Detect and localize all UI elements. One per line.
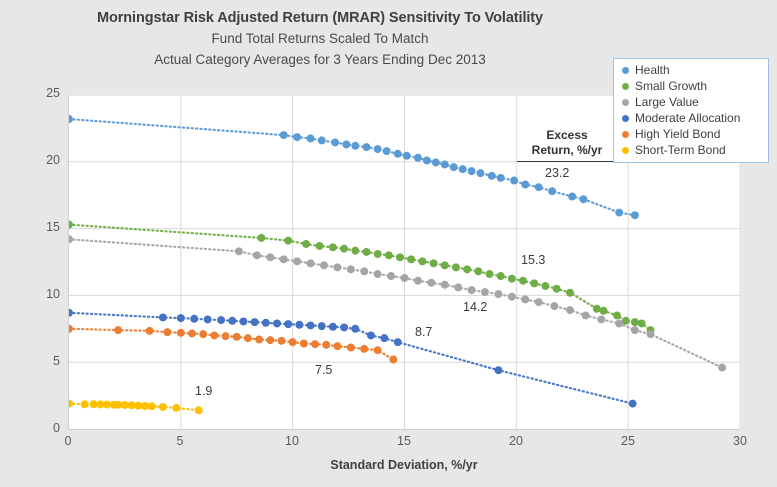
data-point-moderate-allocation [177, 314, 185, 322]
data-point-high-yield-bond [266, 336, 274, 344]
x-axis-label: Standard Deviation, %/yr [68, 458, 740, 472]
data-point-moderate-allocation [239, 317, 247, 325]
excess-return-header: Excess Return, %/yr [512, 128, 622, 158]
legend-marker-icon [622, 115, 629, 122]
data-point-small-growth [316, 242, 324, 250]
data-point-health [318, 136, 326, 144]
series-line-small-growth [69, 225, 651, 331]
legend-item-short-term-bond[interactable]: Short-Term Bond [618, 142, 764, 158]
data-point-moderate-allocation [159, 313, 167, 321]
data-point-health [510, 177, 518, 185]
data-point-small-growth [374, 250, 382, 258]
value-label-high-yield-bond: 7.5 [315, 363, 332, 377]
data-point-moderate-allocation [204, 315, 212, 323]
x-tick-label: 15 [384, 434, 424, 448]
data-point-health [548, 187, 556, 195]
data-point-moderate-allocation [367, 331, 375, 339]
data-point-large-value [582, 311, 590, 319]
data-point-health [631, 211, 639, 219]
legend-item-high-yield-bond[interactable]: High Yield Bond [618, 126, 764, 142]
x-tick-label: 25 [608, 434, 648, 448]
data-point-moderate-allocation [251, 318, 259, 326]
page-title: Morningstar Risk Adjusted Return (MRAR) … [0, 8, 640, 28]
x-tick-label: 30 [720, 434, 760, 448]
data-point-health [362, 143, 370, 151]
data-point-health [568, 193, 576, 201]
data-point-health [488, 172, 496, 180]
data-point-small-growth [362, 248, 370, 256]
data-point-large-value [280, 255, 288, 263]
data-point-large-value [235, 247, 243, 255]
y-tick-label: 25 [16, 86, 60, 100]
value-label-moderate-allocation: 8.7 [415, 325, 432, 339]
data-point-high-yield-bond [322, 341, 330, 349]
data-point-large-value [427, 279, 435, 287]
data-point-short-term-bond [69, 400, 73, 408]
data-point-large-value [401, 274, 409, 282]
data-point-large-value [374, 270, 382, 278]
chart-subtitle-line2: Actual Category Averages for 3 Years End… [0, 49, 640, 70]
data-point-small-growth [638, 319, 646, 327]
data-point-health [69, 115, 73, 123]
data-point-large-value [387, 272, 395, 280]
data-point-small-growth [284, 237, 292, 245]
data-point-moderate-allocation [217, 316, 225, 324]
data-point-high-yield-bond [244, 334, 252, 342]
data-point-moderate-allocation [629, 400, 637, 408]
data-point-large-value [454, 283, 462, 291]
data-point-moderate-allocation [273, 319, 281, 327]
chart-root: Morningstar Risk Adjusted Return (MRAR) … [0, 0, 777, 487]
data-point-large-value [414, 277, 422, 285]
data-point-high-yield-bond [210, 331, 218, 339]
data-point-short-term-bond [195, 406, 203, 414]
data-point-health [497, 174, 505, 182]
data-point-small-growth [340, 245, 348, 253]
y-tick-label: 5 [16, 354, 60, 368]
data-point-moderate-allocation [307, 321, 315, 329]
excess-return-line2: Return, %/yr [532, 143, 603, 157]
data-point-small-growth [407, 255, 415, 263]
data-point-health [579, 195, 587, 203]
data-point-health [477, 169, 485, 177]
data-point-small-growth [463, 265, 471, 273]
data-point-large-value [508, 293, 516, 301]
data-point-health [403, 152, 411, 160]
data-point-short-term-bond [172, 404, 180, 412]
data-point-high-yield-bond [255, 335, 263, 343]
data-point-high-yield-bond [69, 325, 73, 333]
data-point-large-value [468, 286, 476, 294]
data-point-small-growth [600, 307, 608, 315]
data-point-health [293, 133, 301, 141]
data-point-small-growth [351, 247, 359, 255]
excess-return-line1: Excess [546, 128, 587, 142]
excess-return-underline [517, 161, 615, 162]
legend: HealthSmall GrowthLarge ValueModerate Al… [613, 58, 769, 163]
data-point-small-growth [385, 251, 393, 259]
data-point-short-term-bond [148, 402, 156, 410]
data-point-small-growth [441, 261, 449, 269]
legend-item-small-growth[interactable]: Small Growth [618, 78, 764, 94]
data-point-high-yield-bond [188, 329, 196, 337]
data-point-high-yield-bond [163, 328, 171, 336]
data-point-high-yield-bond [177, 329, 185, 337]
legend-marker-icon [622, 99, 629, 106]
y-tick-label: 20 [16, 153, 60, 167]
data-point-moderate-allocation [284, 320, 292, 328]
value-label-short-term-bond: 1.9 [195, 384, 212, 398]
data-point-high-yield-bond [233, 333, 241, 341]
data-point-short-term-bond [159, 403, 167, 411]
data-point-moderate-allocation [329, 323, 337, 331]
data-point-large-value [631, 326, 639, 334]
data-point-health [423, 156, 431, 164]
data-point-large-value [333, 263, 341, 271]
data-point-high-yield-bond [222, 332, 230, 340]
data-point-large-value [521, 295, 529, 303]
legend-item-label: Moderate Allocation [635, 111, 740, 125]
legend-marker-icon [622, 131, 629, 138]
value-label-large-value: 14.2 [463, 300, 487, 314]
data-point-small-growth [485, 270, 493, 278]
legend-item-label: Short-Term Bond [635, 143, 726, 157]
title-block: Morningstar Risk Adjusted Return (MRAR) … [0, 8, 640, 70]
value-label-health: 23.2 [545, 166, 569, 180]
data-point-high-yield-bond [389, 356, 397, 364]
y-tick-label: 15 [16, 220, 60, 234]
data-point-health [459, 165, 467, 173]
data-point-health [450, 163, 458, 171]
data-point-small-growth [530, 279, 538, 287]
data-point-large-value [266, 253, 274, 261]
data-point-large-value [718, 364, 726, 372]
data-point-health [468, 167, 476, 175]
data-point-moderate-allocation [228, 317, 236, 325]
data-point-small-growth [566, 289, 574, 297]
data-point-health [414, 154, 422, 162]
data-point-moderate-allocation [69, 309, 73, 317]
data-point-large-value [535, 298, 543, 306]
data-point-large-value [494, 290, 502, 298]
data-point-health [331, 138, 339, 146]
data-point-high-yield-bond [146, 327, 154, 335]
data-point-small-growth [497, 272, 505, 280]
data-point-health [351, 142, 359, 150]
legend-item-label: High Yield Bond [635, 127, 720, 141]
data-point-small-growth [302, 240, 310, 248]
data-point-moderate-allocation [318, 322, 326, 330]
data-point-large-value [307, 259, 315, 267]
data-point-small-growth [396, 253, 404, 261]
legend-item-moderate-allocation[interactable]: Moderate Allocation [618, 110, 764, 126]
data-point-large-value [293, 257, 301, 265]
legend-item-health[interactable]: Health [618, 62, 764, 78]
data-point-high-yield-bond [289, 338, 297, 346]
data-point-health [280, 131, 288, 139]
data-point-high-yield-bond [300, 340, 308, 348]
data-point-moderate-allocation [394, 338, 402, 346]
data-point-small-growth [452, 263, 460, 271]
data-point-small-growth [474, 267, 482, 275]
legend-item-label: Health [635, 63, 670, 77]
x-tick-label: 20 [496, 434, 536, 448]
y-tick-label: 0 [16, 421, 60, 435]
data-point-large-value [615, 319, 623, 327]
data-point-large-value [647, 330, 655, 338]
data-point-small-growth [329, 243, 337, 251]
data-point-moderate-allocation [295, 321, 303, 329]
data-point-small-growth [631, 318, 639, 326]
data-point-small-growth [69, 221, 73, 229]
legend-marker-icon [622, 83, 629, 90]
data-point-small-growth [257, 234, 265, 242]
data-point-small-growth [508, 275, 516, 283]
data-point-small-growth [418, 257, 426, 265]
data-point-health [394, 150, 402, 158]
data-point-high-yield-bond [374, 346, 382, 354]
data-point-moderate-allocation [262, 319, 270, 327]
data-point-moderate-allocation [351, 325, 359, 333]
data-point-high-yield-bond [277, 337, 285, 345]
data-point-moderate-allocation [494, 366, 502, 374]
data-point-small-growth [613, 311, 621, 319]
data-point-moderate-allocation [340, 323, 348, 331]
legend-item-label: Small Growth [635, 79, 707, 93]
data-point-large-value [481, 288, 489, 296]
data-point-small-growth [430, 259, 438, 267]
legend-item-label: Large Value [635, 95, 699, 109]
data-point-small-growth [541, 282, 549, 290]
data-point-large-value [597, 315, 605, 323]
data-point-large-value [441, 281, 449, 289]
data-point-health [615, 209, 623, 217]
data-point-health [374, 145, 382, 153]
series-line-large-value [69, 239, 722, 367]
x-tick-label: 0 [48, 434, 88, 448]
data-point-health [432, 158, 440, 166]
data-point-large-value [566, 306, 574, 314]
data-point-high-yield-bond [347, 344, 355, 352]
data-point-health [342, 140, 350, 148]
data-point-small-growth [519, 277, 527, 285]
x-tick-label: 5 [160, 434, 200, 448]
data-point-large-value [347, 265, 355, 273]
data-point-large-value [360, 267, 368, 275]
x-tick-label: 10 [272, 434, 312, 448]
data-point-health [441, 160, 449, 168]
legend-item-large-value[interactable]: Large Value [618, 94, 764, 110]
y-tick-label: 10 [16, 287, 60, 301]
data-point-large-value [69, 235, 73, 243]
data-point-small-growth [553, 285, 561, 293]
data-point-moderate-allocation [190, 315, 198, 323]
data-point-health [535, 183, 543, 191]
data-point-large-value [550, 302, 558, 310]
data-point-health [521, 181, 529, 189]
data-point-short-term-bond [81, 400, 89, 408]
series-line-moderate-allocation [69, 313, 633, 404]
legend-marker-icon [622, 67, 629, 74]
legend-marker-icon [622, 147, 629, 154]
value-label-small-growth: 15.3 [521, 253, 545, 267]
data-point-high-yield-bond [333, 342, 341, 350]
chart-subtitle-line1: Fund Total Returns Scaled To Match [0, 28, 640, 49]
data-point-large-value [320, 261, 328, 269]
data-point-high-yield-bond [360, 345, 368, 353]
data-point-high-yield-bond [199, 330, 207, 338]
data-point-health [383, 147, 391, 155]
data-point-moderate-allocation [380, 334, 388, 342]
data-point-high-yield-bond [114, 326, 122, 334]
data-point-large-value [253, 251, 261, 259]
data-point-health [307, 134, 315, 142]
data-point-high-yield-bond [311, 340, 319, 348]
